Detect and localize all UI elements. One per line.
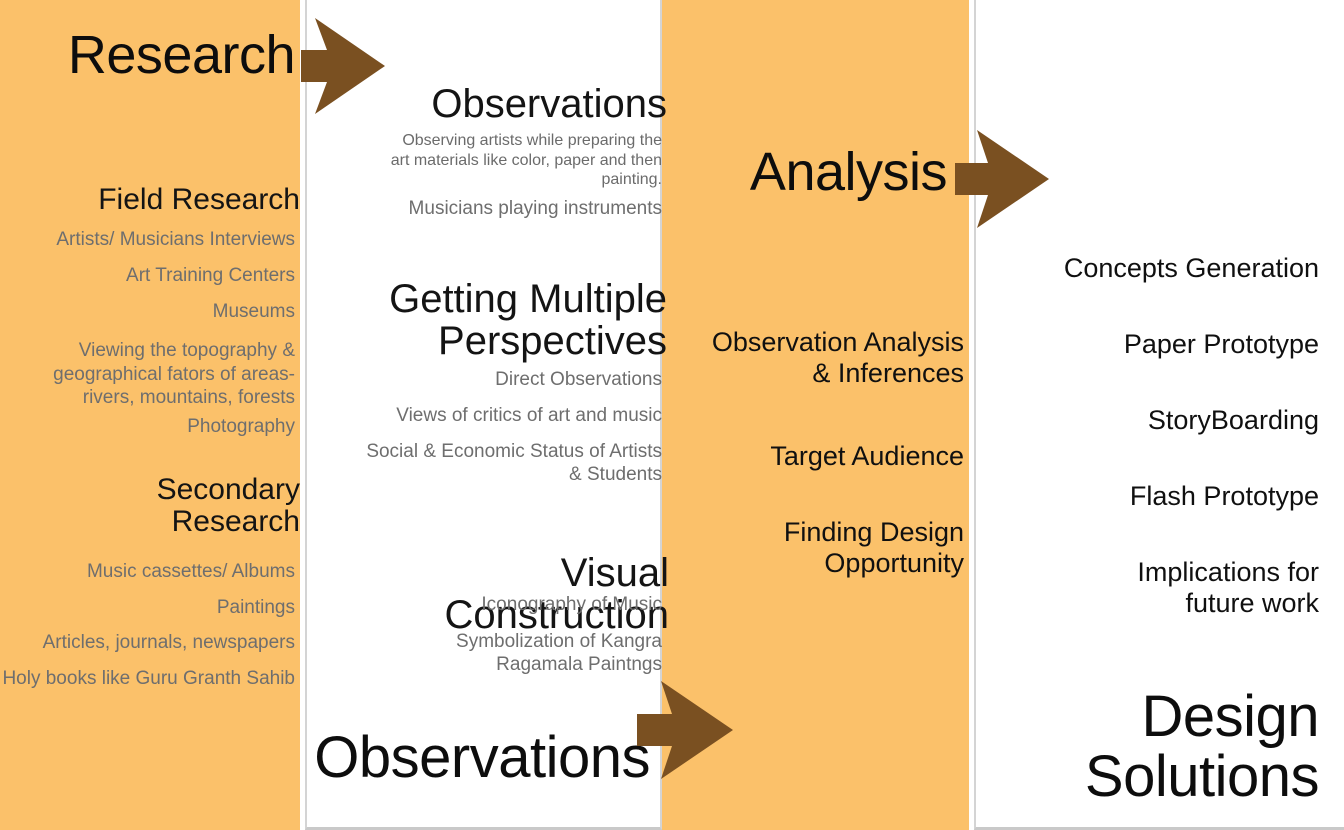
research-item-photography: Photography [0,416,295,438]
observations-item-artists: Observing artists while preparing the ar… [330,131,662,190]
analysis-item-observation-analysis: Observation Analysis & Inferences [662,327,964,389]
arrow-research-to-observations-icon [301,18,385,114]
field-research-heading: Field Research [0,184,300,216]
research-item-paintings: Paintings [0,597,295,619]
analysis-item-design-opportunity: Finding Design Opportunity [662,517,964,579]
design-solutions-footer-title: Design Solutions [974,687,1319,806]
visual-item-symbolization: Symbolization of Kangra Ragamala Paintng… [330,630,662,676]
research-item-training-centers: Art Training Centers [0,265,295,287]
perspectives-item-direct-observations: Direct Observations [330,369,662,391]
research-item-articles: Articles, journals, newspapers [0,632,295,654]
research-item-museums: Museums [0,301,295,323]
observations-item-musicians: Musicians playing instruments [330,198,662,220]
design-item-flash-prototype: Flash Prototype [974,481,1319,511]
perspectives-item-critics: Views of critics of art and music [330,405,662,427]
perspectives-item-social-economic: Social & Economic Status of Artists & St… [330,440,662,486]
design-item-paper-prototype: Paper Prototype [974,329,1319,359]
diagram-canvas: Research Field Research Artists/ Musicia… [0,0,1344,830]
arrow-analysis-to-design-icon [955,130,1049,228]
design-item-implications: Implications for future work [974,557,1319,619]
research-item-topography: Viewing the topography & geographical fa… [0,339,295,410]
research-item-interviews: Artists/ Musicians Interviews [0,229,295,251]
observations-footer-title: Observations [310,728,650,788]
analysis-item-target-audience: Target Audience [662,441,964,471]
research-item-holy-books: Holy books like Guru Granth Sahib [0,668,295,690]
arrow-observations-to-analysis-icon [637,681,733,779]
analysis-title: Analysis [662,144,947,200]
visual-item-iconography: Iconography of Music [330,594,662,616]
research-title: Research [0,27,295,83]
secondary-research-heading: Secondary Research [0,474,300,539]
getting-multiple-perspectives-heading: Getting Multiple Perspectives [330,278,667,362]
design-item-concepts-generation: Concepts Generation [974,253,1319,283]
design-item-storyboarding: StoryBoarding [974,405,1319,435]
panel-research [0,0,300,830]
research-item-cassettes: Music cassettes/ Albums [0,561,295,583]
